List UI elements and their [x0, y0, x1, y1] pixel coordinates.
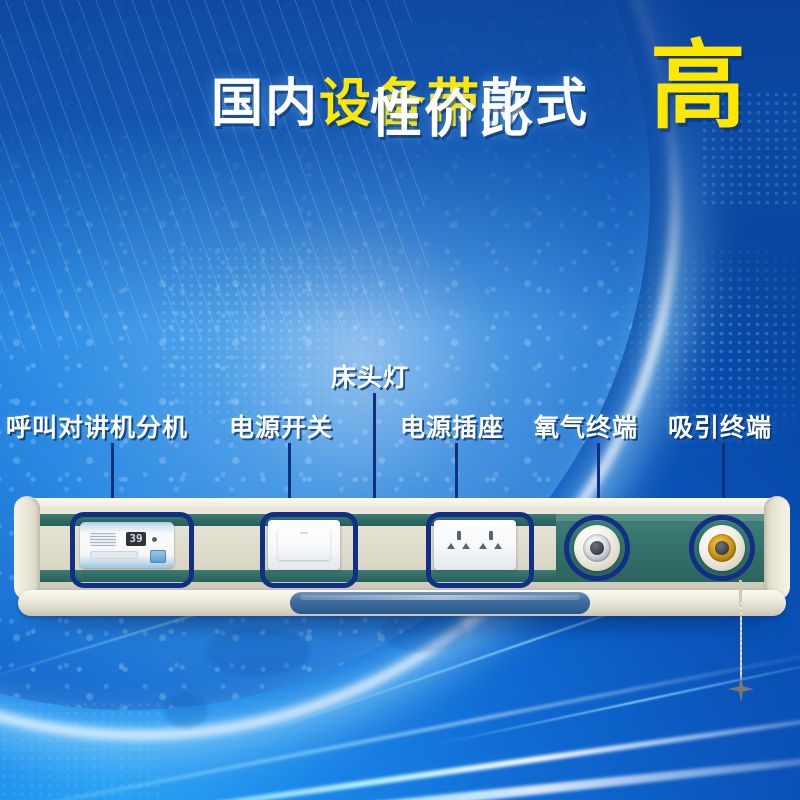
headline-emphasis-high: 高 — [650, 38, 746, 134]
panel-end-cap-right — [764, 496, 790, 600]
promo-banner: 国内设备带款式 性价比 高 呼叫对讲机分机 电源开关 床头灯 电源插座 氧气终端… — [0, 0, 800, 800]
panel-end-cap-left — [14, 496, 40, 600]
halftone-dots — [0, 700, 160, 800]
callout-label-bed-lamp: 床头灯 — [331, 358, 409, 394]
headline-line-1-part-1: 国内 — [211, 74, 319, 134]
callout-label-power-socket: 电源插座 — [400, 408, 504, 444]
callout-label-suction-terminal: 吸引终端 — [668, 408, 772, 444]
headline-line-2: 性价比 — [370, 72, 532, 147]
highlight-circle-oxygen-terminal — [564, 515, 630, 581]
highlight-box-power-socket — [426, 512, 534, 588]
highlight-box-nurse-call-extension — [70, 512, 194, 588]
callout-label-power-switch: 电源开关 — [229, 408, 333, 444]
callout-label-oxygen-terminal: 氧气终端 — [534, 408, 638, 444]
highlight-box-power-switch — [260, 512, 358, 588]
panel-rail-glass-highlight — [300, 595, 580, 600]
callout-label-nurse-call-extension: 呼叫对讲机分机 — [6, 408, 188, 444]
pull-cord[interactable] — [740, 602, 742, 680]
highlight-circle-suction-terminal — [689, 515, 755, 581]
panel-top-bevel — [22, 498, 782, 510]
medical-bed-head-unit: 39 — [22, 498, 782, 624]
